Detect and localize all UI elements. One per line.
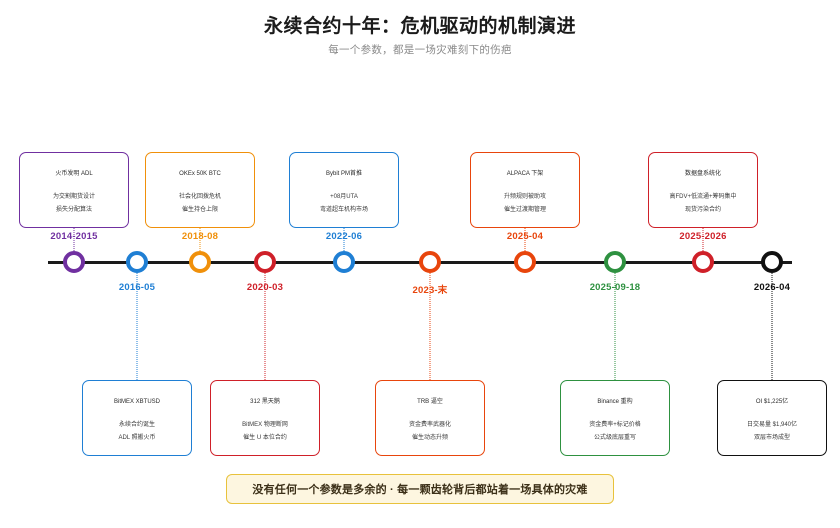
footer-text: 没有任何一个参数是多余的 · 每一颗齿轮背后都站着一场具体的灾难 [252, 481, 587, 497]
timeline-connector [200, 228, 201, 251]
event-card-detail-line: 催生动态升频 [376, 432, 484, 445]
event-card-detail: +08月UTA弯道超车机构市场 [290, 191, 398, 217]
event-card-detail-line: 催生过渡期管理 [471, 204, 579, 217]
event-card-detail-line: 日交易量 $1,940亿 [718, 419, 826, 432]
event-card[interactable]: Binance 重构资金费率+标记价格公式级底层重写 [560, 380, 670, 456]
page-subtitle: 每一个参数，都是一场灾难刻下的伤疤 [0, 42, 840, 57]
timeline-connector [772, 273, 773, 380]
event-card-detail: 永续合约诞生ADL 照搬火币 [83, 419, 191, 445]
timeline-connector [137, 273, 138, 380]
timeline-node-marker[interactable] [63, 251, 85, 273]
event-card-detail: BitMEX 物理断网催生 U 本位合约 [211, 419, 319, 445]
event-card-headline: OI $1,225亿 [718, 395, 826, 409]
timeline-connector [430, 273, 431, 380]
event-card-detail: 日交易量 $1,940亿双层市场成型 [718, 419, 826, 445]
event-card-headline: OKEx 50K BTC [146, 167, 254, 181]
event-card[interactable]: BitMEX XBTUSD永续合约诞生ADL 照搬火币 [82, 380, 192, 456]
footer-banner: 没有任何一个参数是多余的 · 每一颗齿轮背后都站着一场具体的灾难 [226, 474, 614, 504]
event-card-headline: Bybit PM首推 [290, 167, 398, 181]
event-card-headline: 312 黑天鹅 [211, 395, 319, 409]
event-card-detail-line: 为交割期货设计 [20, 191, 128, 204]
event-card[interactable]: 312 黑天鹅BitMEX 物理断网催生 U 本位合约 [210, 380, 320, 456]
event-card-detail-line: 损失分配算法 [20, 204, 128, 217]
event-card[interactable]: Bybit PM首推+08月UTA弯道超车机构市场 [289, 152, 399, 228]
event-card-detail-line: 升频规则被助攻 [471, 191, 579, 204]
event-card-detail: 升频规则被助攻催生过渡期管理 [471, 191, 579, 217]
timeline-infographic: 永续合约十年：危机驱动的机制演进 每一个参数，都是一场灾难刻下的伤疤 2014-… [0, 0, 840, 528]
event-card[interactable]: OKEx 50K BTC社会化回拨危机催生持仓上限 [145, 152, 255, 228]
event-card-detail: 资金费率武器化催生动态升频 [376, 419, 484, 445]
timeline-node-marker[interactable] [761, 251, 783, 273]
event-card-headline: 火币发明 ADL [20, 167, 128, 181]
timeline-connector [525, 228, 526, 251]
event-card-detail-line: +08月UTA [290, 191, 398, 204]
event-card-detail-line: 资金费率武器化 [376, 419, 484, 432]
timeline-node-marker[interactable] [514, 251, 536, 273]
timeline-node-marker[interactable] [333, 251, 355, 273]
timeline-node-marker[interactable] [692, 251, 714, 273]
timeline-connector [703, 228, 704, 251]
event-card-headline: BitMEX XBTUSD [83, 395, 191, 409]
timeline-connector [265, 273, 266, 380]
event-card-detail: 资金费率+标记价格公式级底层重写 [561, 419, 669, 445]
event-card-detail-line: 弯道超车机构市场 [290, 204, 398, 217]
timeline-node-marker[interactable] [126, 251, 148, 273]
timeline-node-marker[interactable] [604, 251, 626, 273]
page-title: 永续合约十年：危机驱动的机制演进 [0, 11, 840, 38]
timeline-node-marker[interactable] [419, 251, 441, 273]
event-card-headline: 数据盘系统化 [649, 167, 757, 181]
timeline-node-marker[interactable] [189, 251, 211, 273]
event-card-detail-line: 催生持仓上限 [146, 204, 254, 217]
event-card-headline: TRB 逼空 [376, 395, 484, 409]
timeline-node-marker[interactable] [254, 251, 276, 273]
event-card-detail-line: 催生 U 本位合约 [211, 432, 319, 445]
timeline-connector [74, 228, 75, 251]
event-card-detail-line: 现货污染合约 [649, 204, 757, 217]
event-card-detail-line: BitMEX 物理断网 [211, 419, 319, 432]
timeline-connector [615, 273, 616, 380]
event-card-detail-line: ADL 照搬火币 [83, 432, 191, 445]
event-card-headline: Binance 重构 [561, 395, 669, 409]
event-card-detail-line: 高FDV+低流通+筹码集中 [649, 191, 757, 204]
event-card-detail-line: 永续合约诞生 [83, 419, 191, 432]
event-card-headline: ALPACA 下架 [471, 167, 579, 181]
event-card-detail: 高FDV+低流通+筹码集中现货污染合约 [649, 191, 757, 217]
event-card[interactable]: ALPACA 下架升频规则被助攻催生过渡期管理 [470, 152, 580, 228]
event-card[interactable]: 数据盘系统化高FDV+低流通+筹码集中现货污染合约 [648, 152, 758, 228]
event-card[interactable]: 火币发明 ADL为交割期货设计损失分配算法 [19, 152, 129, 228]
event-card[interactable]: OI $1,225亿日交易量 $1,940亿双层市场成型 [717, 380, 827, 456]
event-card-detail-line: 双层市场成型 [718, 432, 826, 445]
event-card[interactable]: TRB 逼空资金费率武器化催生动态升频 [375, 380, 485, 456]
event-card-detail: 社会化回拨危机催生持仓上限 [146, 191, 254, 217]
event-card-detail-line: 公式级底层重写 [561, 432, 669, 445]
event-card-detail: 为交割期货设计损失分配算法 [20, 191, 128, 217]
timeline-connector [344, 228, 345, 251]
event-card-detail-line: 资金费率+标记价格 [561, 419, 669, 432]
event-card-detail-line: 社会化回拨危机 [146, 191, 254, 204]
